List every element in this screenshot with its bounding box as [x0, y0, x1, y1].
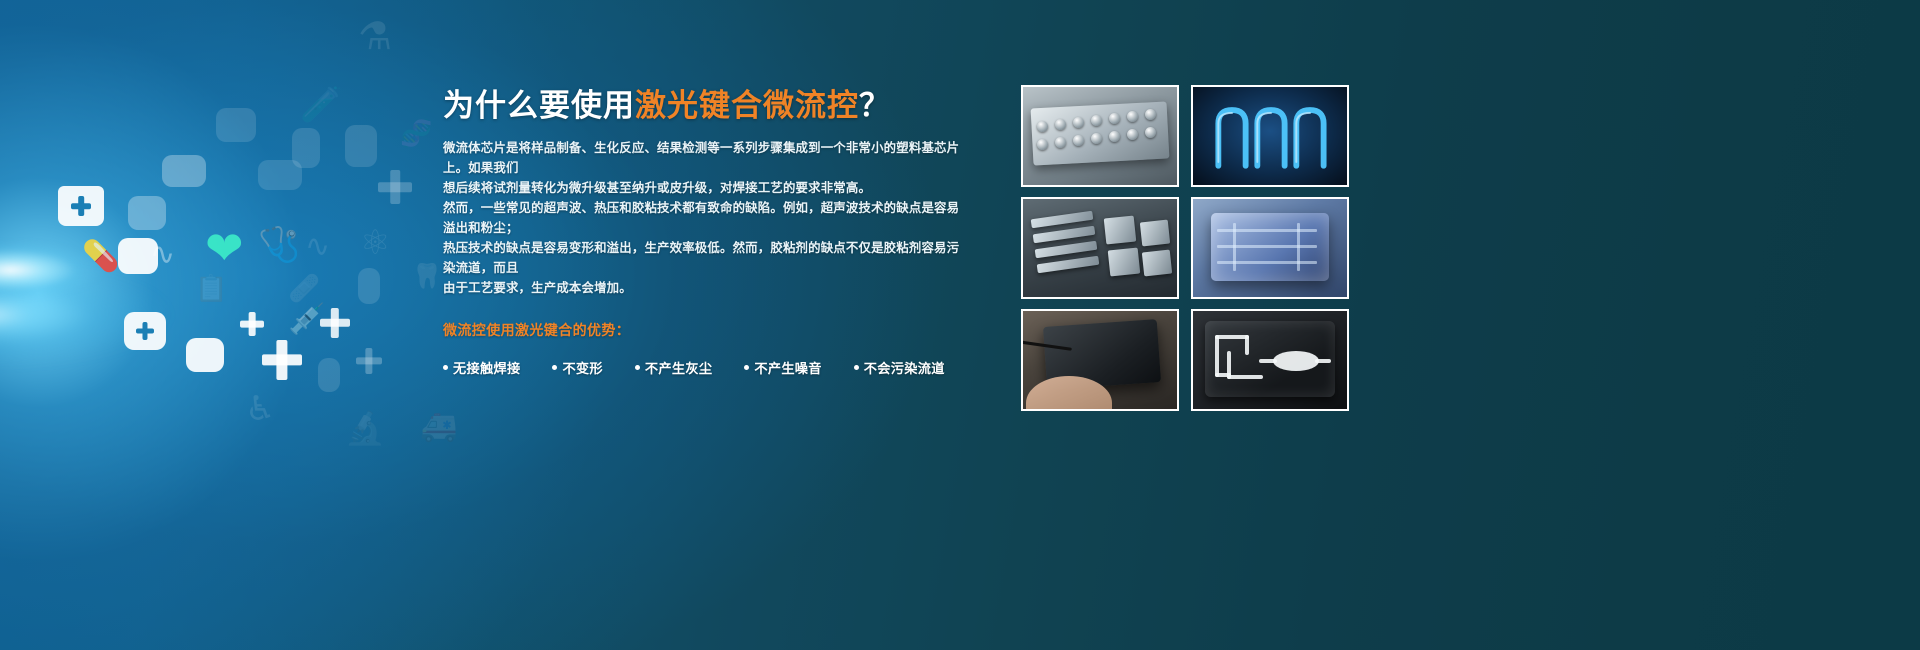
black-cartridge-channel-image — [1193, 311, 1347, 409]
ecg-icon: ∿ — [305, 232, 330, 262]
banner-text-block: 为什么要使用激光键合微流控？ 微流体芯片是将样品制备、生化反应、结果检测等一系列… — [443, 88, 963, 377]
chip-well — [1091, 133, 1102, 144]
plus-cross-icon — [356, 348, 382, 374]
black-card-chip-in-hand-image — [1023, 311, 1177, 409]
chip-strip — [1031, 211, 1094, 229]
list-item-label: 无接触焊接 — [453, 358, 520, 377]
advantages-subheading: 微流控使用激光键合的优势： — [443, 320, 963, 340]
list-item: 不会污染流道 — [854, 358, 945, 377]
channel-line — [1315, 359, 1331, 363]
body-line: 微流体芯片是将样品制备、生化反应、结果检测等一系列步骤集成到一个非常小的塑料基芯… — [443, 138, 963, 178]
chip-well — [1145, 109, 1156, 120]
reaction-chamber — [1273, 351, 1319, 371]
page-title: 为什么要使用激光键合微流控？ — [443, 88, 963, 124]
chip-well — [1109, 131, 1120, 142]
manifold-channel — [1217, 245, 1317, 248]
chip-well — [1037, 121, 1048, 132]
chip-well — [1055, 119, 1066, 130]
dna-icon: 🧬 — [400, 120, 432, 146]
microscope-icon: 🔬 — [345, 412, 385, 444]
battery-icon — [318, 358, 340, 392]
list-item-label: 不产生噪音 — [754, 358, 821, 377]
title-lead: 为什么要使用 — [443, 88, 635, 123]
bed-icon — [258, 160, 302, 190]
list-item-label: 不产生灰尘 — [645, 358, 712, 377]
channel-line — [1215, 335, 1249, 339]
chip-plate — [1142, 250, 1172, 277]
chip-strip — [1035, 241, 1098, 259]
manifold-channel — [1297, 223, 1300, 271]
thermometer-icon — [358, 268, 380, 304]
manifold-channel — [1217, 261, 1317, 264]
list-item: 无接触焊接 — [443, 358, 520, 377]
light-beam-core — [0, 215, 190, 325]
promo-banner: ⚗ 🧪 💊 ❤ ∿ 🩺 ∿ ⚛ 🩹 💉 ♿ 🔬 🚑 🧬 — [0, 0, 1920, 650]
gallery-photo-3 — [1021, 197, 1179, 299]
medical-bag-icon — [118, 238, 158, 274]
serpentine-channel-icon — [1193, 87, 1347, 185]
light-beam-glow — [0, 150, 400, 480]
list-item-label: 不会污染流道 — [864, 358, 945, 377]
channel-line — [1215, 373, 1231, 377]
chip-well — [1037, 139, 1048, 150]
house-plus-icon — [58, 186, 104, 226]
bullet-dot-icon — [552, 365, 557, 370]
transparent-manifold-image — [1193, 199, 1347, 297]
hospital-building-icon — [345, 125, 377, 167]
advantages-list: 无接触焊接 不变形 不产生灰尘 不产生噪音 不会污染流道 — [443, 358, 963, 377]
chip-well — [1091, 115, 1102, 126]
chip-well — [1145, 127, 1156, 138]
plus-cross-icon — [240, 312, 264, 336]
pill-icon: 💊 — [82, 242, 119, 272]
plus-cross-icon — [262, 340, 302, 380]
product-photo-gallery — [1021, 85, 1349, 411]
ecg-icon: ∿ — [150, 240, 175, 270]
body-line: 热压技术的缺点是容易变形和溢出，生产效率极低。然而，胶粘剂的缺点不仅是胶粘剂容易… — [443, 238, 963, 278]
list-item: 不变形 — [552, 358, 602, 377]
body-line: 然而，一些常见的超声波、热压和胶粘技术都有致命的缺陷。例如，超声波技术的缺点是容… — [443, 198, 963, 238]
list-item: 不产生噪音 — [744, 358, 821, 377]
kidney-icon: ⚛ — [360, 226, 390, 260]
medical-bag-icon — [186, 338, 224, 372]
wheelchair-icon: ♿ — [245, 392, 275, 426]
first-aid-kit-icon — [124, 312, 166, 350]
bandage-icon: 🩹 — [288, 275, 320, 301]
heart-pulse-icon: ❤ — [205, 225, 244, 271]
ambulance-icon — [162, 155, 206, 187]
chip-plate — [1104, 216, 1137, 245]
title-question-mark: ？ — [859, 88, 891, 123]
microfluidic-chip-wells-image — [1023, 87, 1177, 185]
chip-plate — [1140, 220, 1170, 247]
channel-line — [1227, 375, 1263, 379]
title-highlight: 激光键合微流控 — [635, 88, 859, 123]
body-paragraphs: 微流体芯片是将样品制备、生化反应、结果检测等一系列步骤集成到一个非常小的塑料基芯… — [443, 138, 963, 298]
blue-serpentine-channel-image — [1193, 87, 1347, 185]
chip-strip — [1037, 256, 1100, 274]
chip-well — [1127, 111, 1138, 122]
body-line: 由于工艺要求，生产成本会增加。 — [443, 278, 963, 298]
chip-plate — [1108, 248, 1141, 277]
plus-cross-icon — [378, 170, 412, 204]
manifold-channel — [1233, 223, 1236, 271]
list-item-label: 不变形 — [562, 358, 602, 377]
clipboard-icon — [216, 108, 256, 142]
channel-line — [1259, 359, 1277, 363]
tooth-icon: 🦷 — [412, 265, 442, 289]
flask-icon: ⚗ — [358, 18, 392, 56]
gallery-photo-6 — [1191, 309, 1349, 411]
stethoscope-icon: 🩺 — [258, 228, 300, 262]
bullet-dot-icon — [854, 365, 859, 370]
clear-chip-array-image — [1023, 199, 1177, 297]
test-tube-icon: 🧪 — [300, 88, 342, 122]
id-card-icon: 📋 — [195, 275, 227, 301]
syringe-icon: 💉 — [288, 305, 325, 335]
book-icon — [292, 128, 320, 168]
gallery-photo-2 — [1191, 85, 1349, 187]
manifold-channel — [1217, 229, 1317, 232]
bullet-dot-icon — [443, 365, 448, 370]
bullet-dot-icon — [744, 365, 749, 370]
chip-well — [1109, 113, 1120, 124]
gallery-photo-4 — [1191, 197, 1349, 299]
body-line: 想后续将试剂量转化为微升级甚至纳升或皮升级，对焊接工艺的要求非常高。 — [443, 178, 963, 198]
chip-well — [1073, 135, 1084, 146]
plus-cross-icon — [320, 308, 350, 338]
pill-icon — [128, 196, 166, 230]
chip-strip — [1033, 226, 1096, 244]
gallery-photo-5 — [1021, 309, 1179, 411]
chip-well — [1055, 137, 1066, 148]
chip-well — [1127, 129, 1138, 140]
ambulance-icon: 🚑 — [420, 412, 457, 442]
list-item: 不产生灰尘 — [635, 358, 712, 377]
channel-line — [1245, 335, 1249, 355]
bullet-dot-icon — [635, 365, 640, 370]
channel-line — [1215, 335, 1219, 377]
gallery-photo-1 — [1021, 85, 1179, 187]
chip-well — [1073, 117, 1084, 128]
